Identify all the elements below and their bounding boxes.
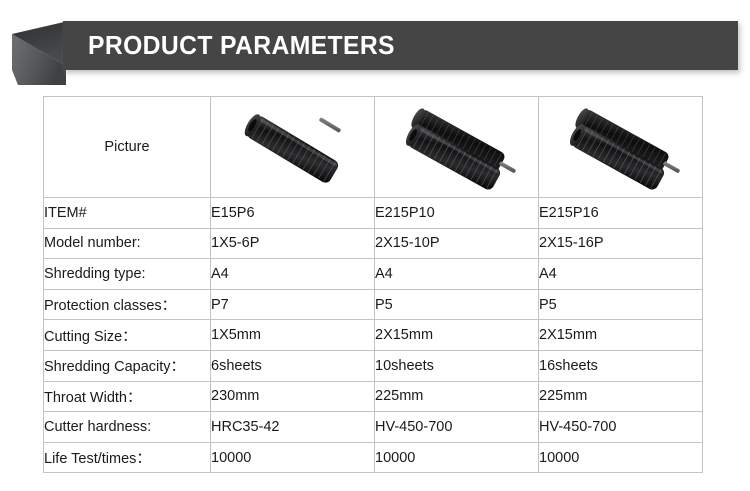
spec-label: Cutting Size： — [44, 320, 211, 351]
spec-value: E215P16 — [539, 198, 703, 229]
table-row: Life Test/times：100001000010000 — [44, 442, 703, 473]
spec-value: P7 — [211, 289, 375, 320]
spec-value: 225mm — [539, 381, 703, 412]
spec-value: 16sheets — [539, 350, 703, 381]
product-image-e215p16 — [539, 97, 703, 198]
spec-value: 6sheets — [211, 350, 375, 381]
spec-value: 225mm — [375, 381, 539, 412]
table-row: Throat Width：230mm225mm225mm — [44, 381, 703, 412]
spec-label: Protection classes： — [44, 289, 211, 320]
spec-value: 2X15-10P — [375, 228, 539, 259]
spec-label: ITEM# — [44, 198, 211, 229]
table-row: Cutter hardness:HRC35-42HV-450-700HV-450… — [44, 412, 703, 443]
twin-cutter-shaft-icon — [545, 99, 697, 195]
spec-value: 10000 — [375, 442, 539, 473]
table-row: Cutting Size：1X5mm2X15mm2X15mm — [44, 320, 703, 351]
spec-value: 10000 — [539, 442, 703, 473]
spec-value: 1X5-6P — [211, 228, 375, 259]
table-row: ITEM#E15P6E215P10E215P16 — [44, 198, 703, 229]
single-cutter-shaft-icon — [218, 99, 368, 195]
spec-value: E15P6 — [211, 198, 375, 229]
table-row: Protection classes：P7P5P5 — [44, 289, 703, 320]
page-banner: PRODUCT PARAMETERS — [0, 0, 750, 92]
spec-label: Life Test/times： — [44, 442, 211, 473]
spec-value: HRC35-42 — [211, 412, 375, 443]
spec-value: P5 — [375, 289, 539, 320]
product-parameters-table: Picture — [43, 96, 703, 473]
spec-value: 2X15mm — [539, 320, 703, 351]
twin-cutter-shaft-icon — [381, 99, 533, 195]
table-row-picture: Picture — [44, 97, 703, 198]
spec-label: Model number: — [44, 228, 211, 259]
spec-value: 10sheets — [375, 350, 539, 381]
spec-value: A4 — [539, 259, 703, 290]
spec-label: Shredding Capacity： — [44, 350, 211, 381]
spec-value: A4 — [211, 259, 375, 290]
table-row: Shredding type:A4A4A4 — [44, 259, 703, 290]
spec-value: E215P10 — [375, 198, 539, 229]
spec-value: P5 — [539, 289, 703, 320]
spec-label: Cutter hardness: — [44, 412, 211, 443]
spec-value: 2X15-16P — [539, 228, 703, 259]
table-row: Shredding Capacity：6sheets10sheets16shee… — [44, 350, 703, 381]
page-title: PRODUCT PARAMETERS — [88, 21, 395, 70]
spec-value: 10000 — [211, 442, 375, 473]
spec-value: HV-450-700 — [539, 412, 703, 443]
product-image-e215p10 — [375, 97, 539, 198]
spec-value: 1X5mm — [211, 320, 375, 351]
table-row: Model number:1X5-6P2X15-10P2X15-16P — [44, 228, 703, 259]
spec-label: Throat Width： — [44, 381, 211, 412]
product-image-e15p6 — [211, 97, 375, 198]
spec-value: A4 — [375, 259, 539, 290]
spec-label: Shredding type: — [44, 259, 211, 290]
spec-value: HV-450-700 — [375, 412, 539, 443]
spec-value: 2X15mm — [375, 320, 539, 351]
spec-value: 230mm — [211, 381, 375, 412]
picture-row-label: Picture — [44, 97, 211, 198]
